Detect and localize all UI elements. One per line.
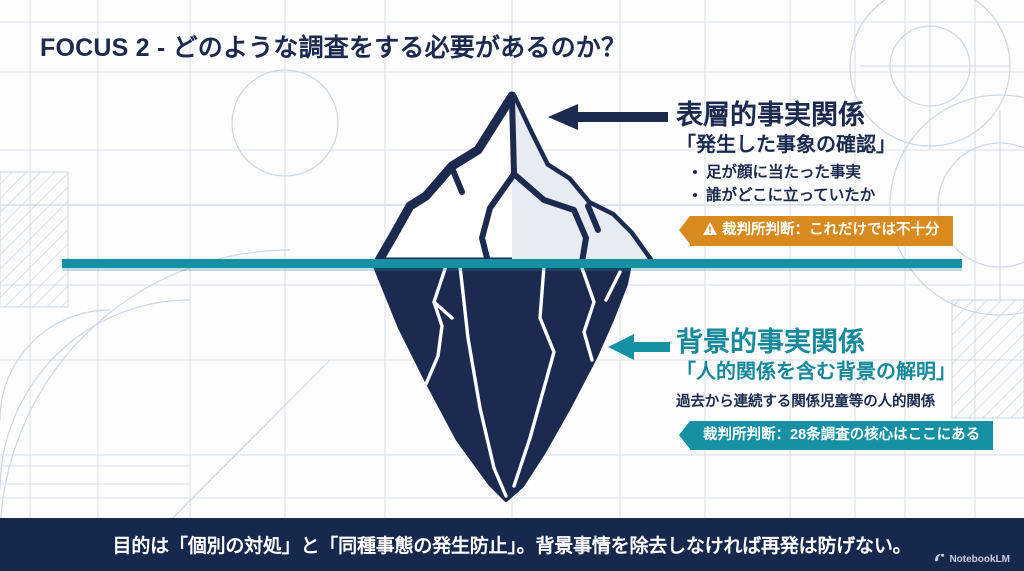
left-arrow-teal-icon (608, 334, 670, 365)
notebooklm-watermark: NotebookLM (934, 552, 1010, 566)
iceberg-illustration (330, 88, 700, 508)
below-water-note: 過去から連続する関係児童等の人的関係 (676, 390, 1021, 411)
slide-canvas: FOCUS 2 - どのような調査をする必要があるのか？ (0, 0, 1024, 571)
below-water-text-block: 背景的事実関係 「人的関係を含む背景の解明」 過去から連続する関係児童等の人的関… (676, 327, 1021, 450)
above-water-heading: 表層的事実関係 (676, 100, 1016, 130)
warning-triangle-icon (703, 222, 717, 240)
status-badge-core: 裁判所判断：28条調査の核心はここにある (690, 421, 993, 450)
list-item: 足が顔に当たった事実 (692, 162, 1016, 184)
footer-bar: 目的は「個別の対処」と「同種事態の発生防止」。背景事情を除去しなければ再発は防げ… (0, 518, 1024, 571)
status-badge-label: 裁判所判断：28条調査の核心はここにある (703, 427, 980, 443)
above-water-text-block: 表層的事実関係 「発生した事象の確認」 足が顔に当たった事実 誰がどこに立ってい… (676, 100, 1016, 246)
footer-message: 目的は「個別の対処」と「同種事態の発生防止」。背景事情を除去しなければ再発は防げ… (0, 518, 1024, 571)
waterline-shadow (62, 268, 962, 271)
below-water-subheading: 「人的関係を含む背景の解明」 (676, 360, 1021, 384)
left-arrow-navy-icon (548, 104, 668, 135)
watermark-label: NotebookLM (949, 554, 1010, 565)
above-water-subheading: 「発生した事象の確認」 (676, 133, 1016, 157)
above-water-bullet-list: 足が顔に当たった事実 誰がどこに立っていたか (676, 162, 1016, 207)
below-water-heading: 背景的事実関係 (676, 327, 1021, 357)
notebooklm-logo-icon (934, 552, 945, 566)
above-water-badge-row: 裁判所判断：これだけでは不十分 (676, 216, 1016, 246)
status-badge-insufficient: 裁判所判断：これだけでは不十分 (690, 216, 953, 246)
list-item: 誰がどこに立っていたか (692, 185, 1016, 207)
below-water-badge-row: 裁判所判断：28条調査の核心はここにある (676, 421, 1021, 450)
page-title: FOCUS 2 - どのような調査をする必要があるのか？ (40, 28, 626, 64)
waterline (62, 259, 962, 268)
status-badge-label: 裁判所判断：これだけでは不十分 (722, 222, 940, 238)
